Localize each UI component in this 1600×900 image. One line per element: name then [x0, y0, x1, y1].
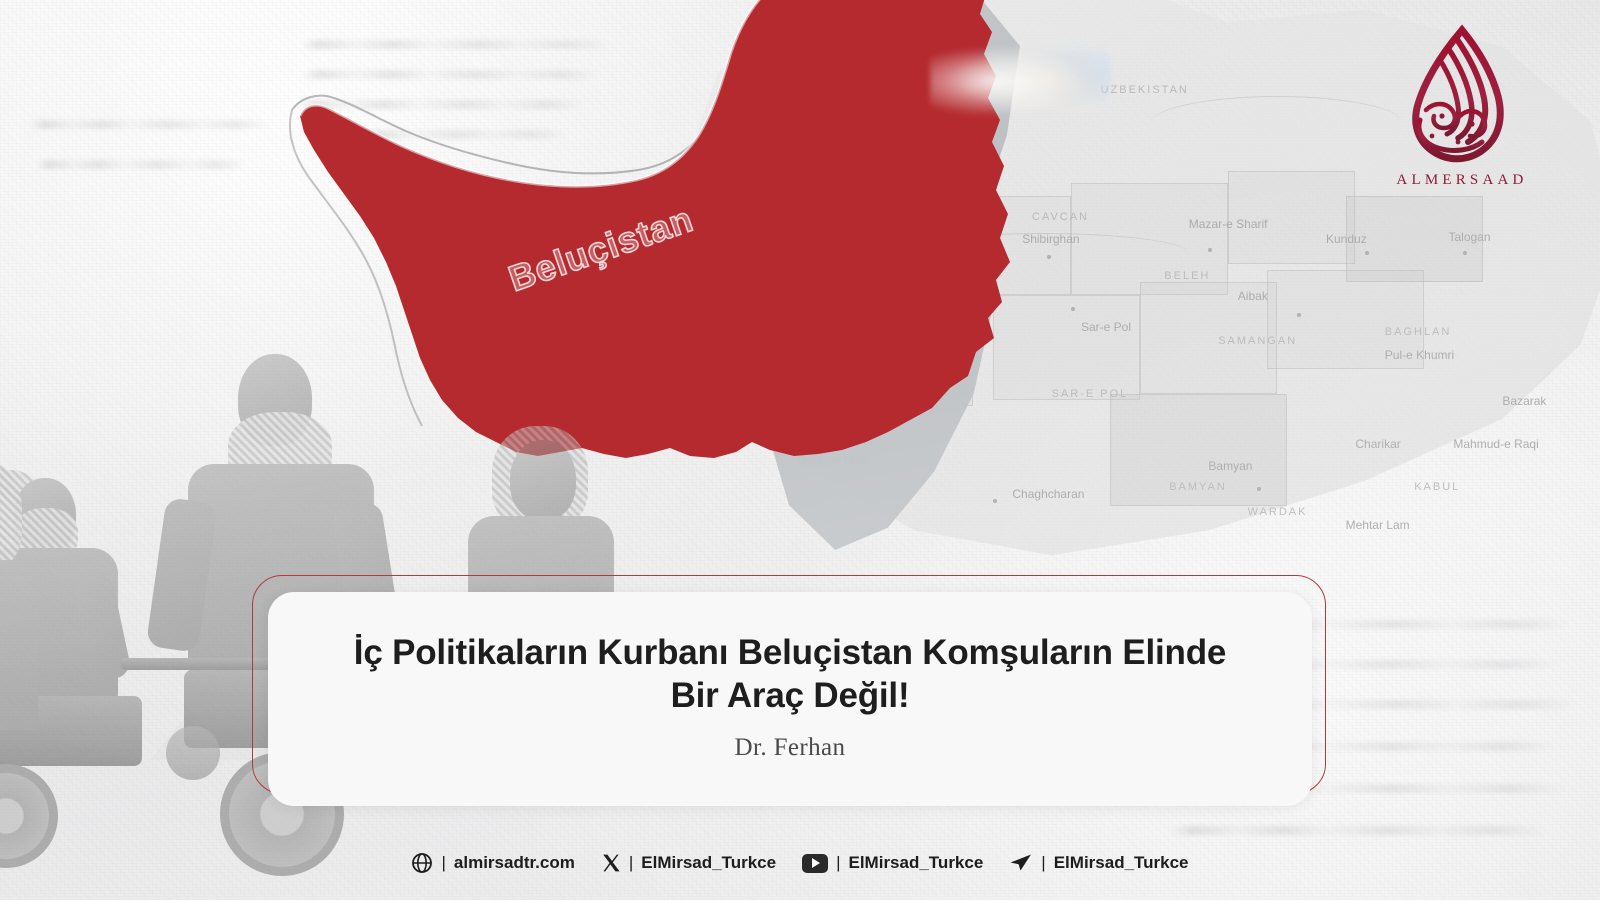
province-shape	[1267, 270, 1424, 369]
province-shape	[1140, 282, 1277, 394]
map-label-city: Mehtar Lam	[1346, 518, 1410, 532]
footer-handle-website: almirsadtr.com	[454, 853, 575, 873]
brand-wordmark: ALMERSAAD	[1376, 172, 1548, 189]
footer-separator: |	[1041, 853, 1045, 873]
province-shape	[1346, 196, 1483, 283]
glow-artifact	[930, 40, 1110, 120]
province-shape	[1228, 171, 1355, 264]
x-twitter-icon	[601, 853, 621, 873]
card-byline: Dr. Ferhan	[735, 734, 846, 762]
card-title: İç Politikaların Kurbanı Beluçistan Komş…	[354, 632, 1226, 717]
footer-separator: |	[629, 853, 633, 873]
almersaad-calligraphy-icon	[1376, 24, 1548, 170]
footer-item-telegram[interactable]: | ElMirsad_Turkce	[1009, 853, 1188, 873]
footer-item-x[interactable]: | ElMirsad_Turkce	[601, 853, 776, 873]
poster-canvas: UZBEKISTAN CAVCAN Shibirghan Mazar-e Sha…	[0, 0, 1600, 900]
footer-separator: |	[441, 853, 445, 873]
map-label-province: KABUL	[1414, 481, 1460, 493]
globe-icon	[411, 852, 433, 874]
card-title-line-2: Bir Araç Değil!	[671, 676, 910, 715]
footer-item-youtube[interactable]: | ElMirsad_Turkce	[802, 853, 983, 873]
telegram-icon	[1009, 853, 1033, 873]
city-dot	[1047, 255, 1051, 259]
footer-item-website[interactable]: | almirsadtr.com	[411, 852, 574, 874]
footer-separator: |	[836, 853, 840, 873]
footer-handle-telegram: ElMirsad_Turkce	[1054, 853, 1189, 873]
map-label-city: Mahmud-e Raqi	[1453, 437, 1538, 451]
social-footer: | almirsadtr.com | ElMirsad_Turkce | ElM…	[0, 852, 1600, 874]
almersaad-logo: ALMERSAAD	[1376, 24, 1548, 204]
footer-handle-youtube: ElMirsad_Turkce	[849, 853, 984, 873]
card-title-line-1: İç Politikaların Kurbanı Beluçistan Komş…	[354, 633, 1226, 672]
footer-handle-x: ElMirsad_Turkce	[641, 853, 776, 873]
title-card: İç Politikaların Kurbanı Beluçistan Komş…	[268, 592, 1312, 806]
youtube-icon	[802, 854, 828, 873]
